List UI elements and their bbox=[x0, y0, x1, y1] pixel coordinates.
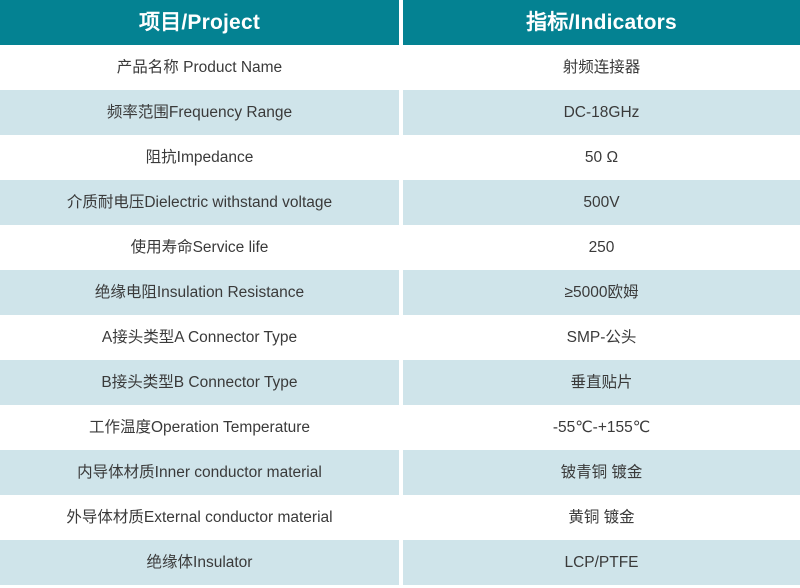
cell-indicator: LCP/PTFE bbox=[401, 540, 800, 585]
cell-indicator: 黄铜 镀金 bbox=[401, 495, 800, 540]
table-row: 使用寿命Service life250 bbox=[0, 225, 800, 270]
table-row: A接头类型A Connector TypeSMP-公头 bbox=[0, 315, 800, 360]
cell-project: A接头类型A Connector Type bbox=[0, 315, 401, 360]
cell-project: 外导体材质External conductor material bbox=[0, 495, 401, 540]
column-header-indicator: 指标/Indicators bbox=[401, 0, 800, 45]
cell-indicator: -55℃-+155℃ bbox=[401, 405, 800, 450]
cell-project: 绝缘电阻Insulation Resistance bbox=[0, 270, 401, 315]
cell-project: 产品名称 Product Name bbox=[0, 45, 401, 90]
cell-project: 使用寿命Service life bbox=[0, 225, 401, 270]
table-body: 产品名称 Product Name射频连接器频率范围Frequency Rang… bbox=[0, 45, 800, 585]
table-row: 频率范围Frequency RangeDC-18GHz bbox=[0, 90, 800, 135]
cell-project: 绝缘体Insulator bbox=[0, 540, 401, 585]
cell-indicator: SMP-公头 bbox=[401, 315, 800, 360]
cell-project: 介质耐电压Dielectric withstand voltage bbox=[0, 180, 401, 225]
cell-indicator: 射频连接器 bbox=[401, 45, 800, 90]
cell-indicator: 垂直贴片 bbox=[401, 360, 800, 405]
cell-indicator: 500V bbox=[401, 180, 800, 225]
table-row: 绝缘体InsulatorLCP/PTFE bbox=[0, 540, 800, 585]
cell-project: 阻抗Impedance bbox=[0, 135, 401, 180]
table-row: 阻抗Impedance50 Ω bbox=[0, 135, 800, 180]
table-row: 工作温度Operation Temperature-55℃-+155℃ bbox=[0, 405, 800, 450]
cell-project: 内导体材质Inner conductor material bbox=[0, 450, 401, 495]
cell-project: 频率范围Frequency Range bbox=[0, 90, 401, 135]
table-row: 外导体材质External conductor material黄铜 镀金 bbox=[0, 495, 800, 540]
cell-project: B接头类型B Connector Type bbox=[0, 360, 401, 405]
product-specification-table: 项目/Project 指标/Indicators 产品名称 Product Na… bbox=[0, 0, 800, 585]
table-header: 项目/Project 指标/Indicators bbox=[0, 0, 800, 45]
table-header-row: 项目/Project 指标/Indicators bbox=[0, 0, 800, 45]
table-row: B接头类型B Connector Type垂直贴片 bbox=[0, 360, 800, 405]
table-row: 绝缘电阻Insulation Resistance≥5000欧姆 bbox=[0, 270, 800, 315]
cell-project: 工作温度Operation Temperature bbox=[0, 405, 401, 450]
cell-indicator: DC-18GHz bbox=[401, 90, 800, 135]
column-header-project: 项目/Project bbox=[0, 0, 401, 45]
cell-indicator: 铍青铜 镀金 bbox=[401, 450, 800, 495]
cell-indicator: 50 Ω bbox=[401, 135, 800, 180]
table-row: 内导体材质Inner conductor material铍青铜 镀金 bbox=[0, 450, 800, 495]
cell-indicator: ≥5000欧姆 bbox=[401, 270, 800, 315]
table-row: 介质耐电压Dielectric withstand voltage500V bbox=[0, 180, 800, 225]
table-row: 产品名称 Product Name射频连接器 bbox=[0, 45, 800, 90]
cell-indicator: 250 bbox=[401, 225, 800, 270]
